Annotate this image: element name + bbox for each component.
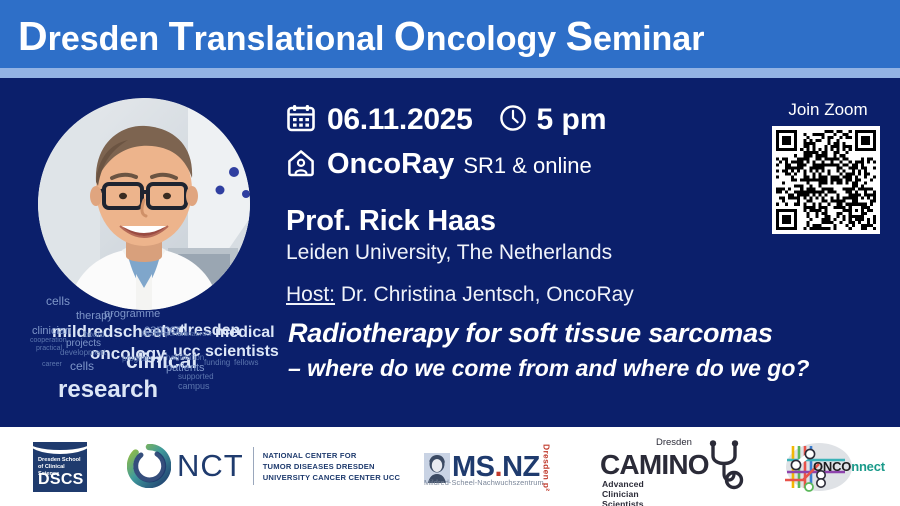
title-cap-d: D — [18, 13, 48, 59]
speaker-portrait — [38, 98, 250, 310]
title-cap-s: S — [566, 13, 593, 59]
logo-dscs: Dresden School of Clinical Science DSCS — [33, 442, 87, 492]
title-rest-dresden: resden — [48, 20, 169, 58]
word-cloud-item: campus — [178, 382, 210, 391]
camino-wordmark: CAMINO — [600, 449, 709, 481]
nct-divider — [253, 447, 254, 485]
poster-body: researchclinicalmildredscheeloncologynct… — [0, 78, 900, 427]
word-cloud-item: practical — [36, 345, 62, 352]
word-cloud-item: dresden — [178, 323, 240, 339]
word-cloud-item: career — [42, 361, 62, 368]
word-cloud-item: clinician — [32, 326, 71, 337]
talk-title-line1: Radiotherapy for soft tissue sarcomas — [288, 318, 888, 349]
talk-title-line2: – where do we come from and where do we … — [288, 355, 888, 382]
dscs-roof-icon — [33, 442, 87, 454]
onconnect-word-b: nnect — [851, 459, 885, 474]
event-venue: OncoRay — [327, 148, 454, 181]
event-venue-detail: SR1 & online — [463, 153, 591, 179]
title-rest-translational: ranslational — [194, 20, 394, 58]
title-cap-t: T — [169, 13, 194, 59]
word-cloud-item: faculty — [142, 331, 162, 338]
word-cloud-item: cells — [46, 295, 70, 307]
nct-text-line3: UNIVERSITY CANCER CENTER UCC — [263, 472, 401, 483]
logo-nct: NCT NATIONAL CENTER FOR TUMOR DISEASES D… — [127, 444, 400, 488]
host-name: Dr. Christina Jentsch, OncoRay — [341, 283, 634, 306]
nct-wordmark: NCT — [177, 448, 244, 484]
nct-text-line1: NATIONAL CENTER FOR — [263, 450, 401, 461]
word-cloud-item: important — [158, 331, 187, 338]
word-cloud-item: cells — [70, 360, 94, 372]
qr-code[interactable] — [772, 126, 880, 234]
word-cloud-item: supported — [178, 373, 214, 381]
word-cloud-item: ucc scientists — [173, 344, 279, 360]
event-venue-row: OncoRay SR1 & online — [286, 148, 746, 183]
onconnect-word-a: ONCO — [813, 459, 851, 474]
dscs-box: Dresden School of Clinical Science DSCS — [33, 442, 87, 492]
word-cloud-item: cancer — [144, 323, 180, 335]
word-cloud-item: program — [122, 355, 152, 363]
seminar-poster: Dresden Translational Oncology Seminar — [0, 0, 900, 506]
word-cloud-item: clinical — [126, 351, 197, 372]
word-cloud-item: habilitation — [166, 354, 204, 362]
word-cloud-item: development — [60, 349, 106, 357]
word-cloud-item: funding — [204, 359, 230, 367]
title-rest-seminar: eminar — [593, 20, 705, 58]
host-line: Host: Dr. Christina Jentsch, OncoRay — [286, 283, 746, 307]
word-cloud-item: cooperation — [30, 337, 67, 344]
onconnect-graphic: ONCOnnect — [779, 442, 875, 492]
event-time-group: 5 pm — [499, 103, 607, 137]
clock-icon — [499, 104, 527, 137]
word-cloud-item: orbital — [178, 331, 197, 338]
dscs-acronym: DSCS — [38, 471, 84, 489]
event-time: 5 pm — [537, 103, 607, 137]
speaker-name: Prof. Rick Haas — [286, 205, 746, 238]
word-cloud-item: board — [84, 331, 104, 339]
nct-ring-icon — [127, 444, 171, 488]
camino-pretext: Dresden — [656, 437, 692, 448]
stethoscope-icon — [704, 440, 746, 497]
header-divider — [0, 68, 900, 78]
calendar-icon — [286, 103, 316, 138]
nct-text-line2: TUMOR DISEASES DRESDEN — [263, 461, 401, 472]
join-zoom-label: Join Zoom — [772, 100, 884, 120]
logo-msnz: MS.NZ Dresden p² Mildred-Scheel-Nachwuch… — [424, 444, 562, 491]
event-datetime-row: 06.11.2025 5 pm — [286, 100, 746, 140]
word-cloud-item: programme — [104, 309, 160, 320]
title-cap-o: O — [394, 13, 426, 59]
logo-onconnect: ONCOnnect — [779, 442, 875, 492]
host-label: Host: — [286, 283, 335, 306]
word-cloud-item: medical — [215, 325, 275, 341]
poster-header: Dresden Translational Oncology Seminar — [0, 0, 900, 68]
msnz-subtitle: Mildred-Scheel-Nachwuchszentrum — [424, 478, 544, 487]
page-title: Dresden Translational Oncology Seminar — [18, 13, 704, 60]
onconnect-wordmark: ONCOnnect — [813, 459, 885, 474]
dscs-subtitle-line1: Dresden School — [38, 457, 87, 464]
nct-fulltext: NATIONAL CENTER FOR TUMOR DISEASES DRESD… — [263, 450, 401, 483]
word-cloud-item: oncology — [90, 345, 166, 362]
word-cloud-item: research — [58, 378, 158, 402]
word-cloud-item: nct — [161, 323, 185, 339]
word-cloud-item: order — [196, 331, 212, 338]
title-rest-oncology: ncology — [426, 20, 566, 58]
word-cloud-item: projects — [66, 339, 101, 349]
talk-title: Radiotherapy for soft tissue sarcomas – … — [288, 318, 888, 382]
event-info: 06.11.2025 5 pm — [286, 100, 746, 307]
event-date: 06.11.2025 — [327, 103, 473, 137]
word-cloud-item: fellows — [234, 359, 258, 367]
word-cloud-item: patients — [166, 363, 205, 374]
join-zoom-block[interactable]: Join Zoom — [772, 100, 884, 234]
home-person-icon — [286, 148, 316, 183]
word-cloud-item: mildredscheel — [52, 323, 166, 340]
word-cloud-item: therapy — [76, 311, 113, 322]
camino-subtitle: Advanced Clinician Scientists — [602, 479, 644, 506]
speaker-affiliation: Leiden University, The Netherlands — [286, 241, 746, 265]
